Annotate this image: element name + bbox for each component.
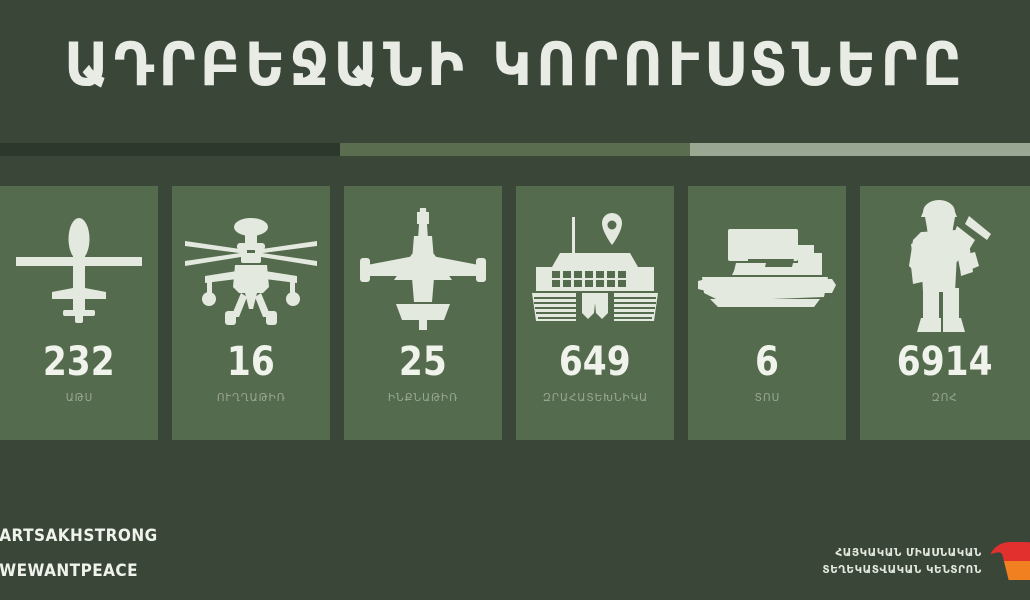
- hashtag-group: #ARTSAKHSTRONG #WEWANTPEACE: [0, 528, 326, 580]
- brand-line-2: ՏԵՂԵԿԱՏՎԱԿԱՆ ԿԵՆՏՐՈՆ: [823, 561, 982, 578]
- stat-value: 649: [559, 342, 631, 382]
- divider-segment-light: [690, 143, 1030, 156]
- stat-card-airplane[interactable]: 25 ԻՆՔՆԱԹԻՌ: [344, 186, 502, 440]
- airplane-icon: [344, 186, 502, 346]
- stat-value: 232: [43, 342, 115, 382]
- stat-value: 6: [755, 342, 779, 382]
- stat-value: 16: [227, 342, 275, 382]
- brand-logo: ՀԱՅԿԱԿԱՆ ՄԻԱՍՆԱԿԱՆ ՏԵՂԵԿԱՏՎԱԿԱՆ ԿԵՆՏՐՈՆ: [814, 536, 1030, 586]
- header: ԱԴՐԲԵՋԱՆԻ ԿՈՐՈՒՍՏՆԵՐԸ: [0, 0, 1030, 130]
- tos-icon: [688, 186, 846, 346]
- page-title: ԱԴՐԲԵՋԱՆԻ ԿՈՐՈՒՍՏՆԵՐԸ: [64, 35, 966, 95]
- divider-segment-mid: [340, 143, 690, 156]
- uav-icon: [0, 186, 158, 346]
- stat-card-armored-vehicle[interactable]: 649 ԶՐԱՀԱՏԵԽՆԻԿԱ: [516, 186, 674, 440]
- stat-label: ԶՈՀ: [932, 391, 958, 404]
- brand-text: ՀԱՅԿԱԿԱՆ ՄԻԱՍՆԱԿԱՆ ՏԵՂԵԿԱՏՎԱԿԱՆ ԿԵՆՏՐՈՆ: [823, 544, 982, 578]
- stat-label: ԶՐԱՀԱՏԵԽՆԻԿԱ: [542, 391, 647, 404]
- divider-bar: [0, 143, 1030, 156]
- brand-mark-icon: [988, 536, 1030, 586]
- hashtag-artsakhstrong: #ARTSAKHSTRONG: [0, 528, 292, 545]
- helicopter-icon: [172, 186, 330, 346]
- stat-card-helicopter[interactable]: 16 ՈՒՂՂԱԹԻՌ: [172, 186, 330, 440]
- stat-label: ՏՈՍ: [754, 391, 780, 404]
- stat-value: 25: [399, 342, 447, 382]
- tank-front-icon: [516, 186, 674, 346]
- brand-line-1: ՀԱՅԿԱԿԱՆ ՄԻԱՍՆԱԿԱՆ: [823, 544, 982, 561]
- hashtag-wewantpeace: #WEWANTPEACE: [0, 563, 292, 580]
- stat-value: 6914: [897, 342, 993, 382]
- stat-label: ԻՆՔՆԱԹԻՌ: [388, 391, 458, 404]
- stat-card-casualties[interactable]: 6914 ԶՈՀ: [860, 186, 1030, 440]
- soldier-icon: [860, 186, 1030, 346]
- stat-card-uav[interactable]: 232 ԱԹՍ: [0, 186, 158, 440]
- divider-segment-dark: [0, 143, 340, 156]
- stat-label: ՈՒՂՂԱԹԻՌ: [216, 391, 285, 404]
- stat-card-tos[interactable]: 6 ՏՈՍ: [688, 186, 846, 440]
- stats-card-strip: 232 ԱԹՍ: [0, 186, 1030, 440]
- stat-label: ԱԹՍ: [65, 391, 92, 404]
